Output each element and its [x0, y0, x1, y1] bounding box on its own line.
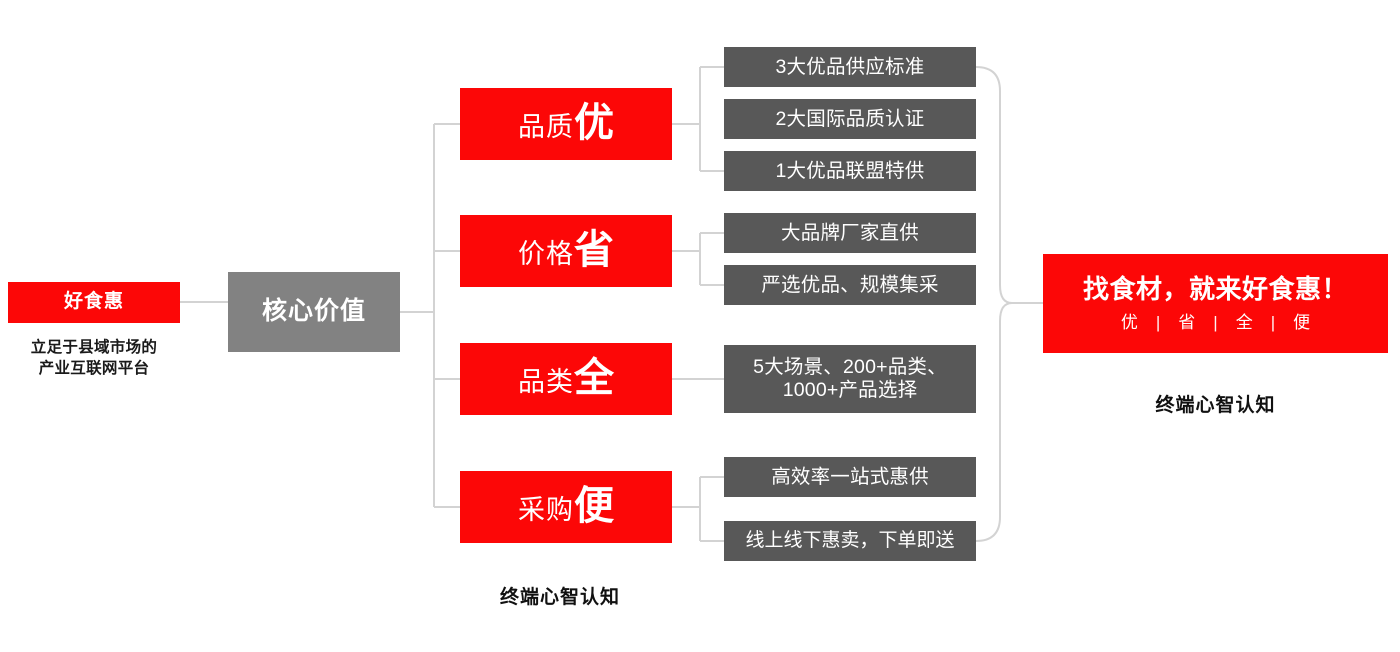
slogan-caption: 终端心智认知 [1043, 390, 1388, 417]
pillar-box-category[interactable]: 品类 全 [460, 343, 672, 415]
detail-box[interactable]: 1大优品联盟特供 [724, 151, 976, 191]
detail-label: 2大国际品质认证 [776, 108, 925, 131]
slogan-main-text: 找食材，就来好食惠！ [1083, 274, 1348, 305]
detail-label: 3大优品供应标准 [776, 56, 925, 79]
brand-caption: 立足于县域市场的 产业互联网平台 [8, 338, 180, 379]
pillar-prefix: 品质 [518, 112, 574, 144]
pillar-keyword: 优 [574, 100, 614, 147]
pillar-column-caption: 终端心智认知 [440, 582, 680, 609]
slogan-keyword: 便 [1275, 313, 1328, 333]
brand-caption-line-2: 产业互联网平台 [8, 359, 180, 380]
core-value-label: 核心价值 [262, 297, 366, 327]
detail-box[interactable]: 大品牌厂家直供 [724, 213, 976, 253]
detail-box[interactable]: 3大优品供应标准 [724, 47, 976, 87]
pillar-box-price[interactable]: 价格 省 [460, 215, 672, 287]
pillar-box-purchase[interactable]: 采购 便 [460, 471, 672, 543]
detail-label: 1大优品联盟特供 [776, 160, 925, 183]
slogan-separator: | [1213, 313, 1217, 333]
slogan-separator: | [1271, 313, 1275, 333]
detail-label: 大品牌厂家直供 [781, 222, 919, 245]
detail-label: 高效率一站式惠供 [771, 466, 929, 489]
detail-box[interactable]: 线上线下惠卖，下单即送 [724, 521, 976, 561]
pillar-prefix: 采购 [518, 495, 574, 527]
detail-box[interactable]: 2大国际品质认证 [724, 99, 976, 139]
brand-box[interactable]: 好食惠 [8, 282, 180, 323]
slogan-box[interactable]: 找食材，就来好食惠！ 优 | 省 | 全 | 便 [1043, 254, 1388, 353]
detail-box[interactable]: 高效率一站式惠供 [724, 457, 976, 497]
pillar-prefix: 品类 [518, 367, 574, 399]
pillar-keyword: 便 [574, 483, 614, 530]
slogan-keyword: 全 [1218, 313, 1271, 333]
slogan-keyword: 优 [1103, 313, 1156, 333]
brand-caption-line-1: 立足于县域市场的 [8, 338, 180, 359]
diagram-canvas: 好食惠 立足于县域市场的 产业互联网平台 核心价值 品质 优 价格 省 品类 全… [0, 0, 1400, 652]
pillar-prefix: 价格 [518, 239, 574, 271]
pillar-box-quality[interactable]: 品质 优 [460, 88, 672, 160]
brand-label: 好食惠 [64, 291, 124, 313]
core-value-box[interactable]: 核心价值 [228, 272, 400, 352]
detail-box[interactable]: 5大场景、200+品类、 1000+产品选择 [724, 345, 976, 413]
pillar-keyword: 全 [574, 355, 614, 402]
detail-label: 5大场景、200+品类、 1000+产品选择 [753, 356, 947, 402]
detail-label: 线上线下惠卖，下单即送 [745, 530, 954, 552]
detail-box[interactable]: 严选优品、规模集采 [724, 265, 976, 305]
slogan-keywords: 优 | 省 | 全 | 便 [1103, 313, 1328, 333]
detail-label: 严选优品、规模集采 [761, 274, 938, 297]
slogan-keyword: 省 [1160, 313, 1213, 333]
slogan-separator: | [1156, 313, 1160, 333]
line-details-to-slogan [976, 67, 1043, 541]
pillar-keyword: 省 [574, 227, 614, 274]
